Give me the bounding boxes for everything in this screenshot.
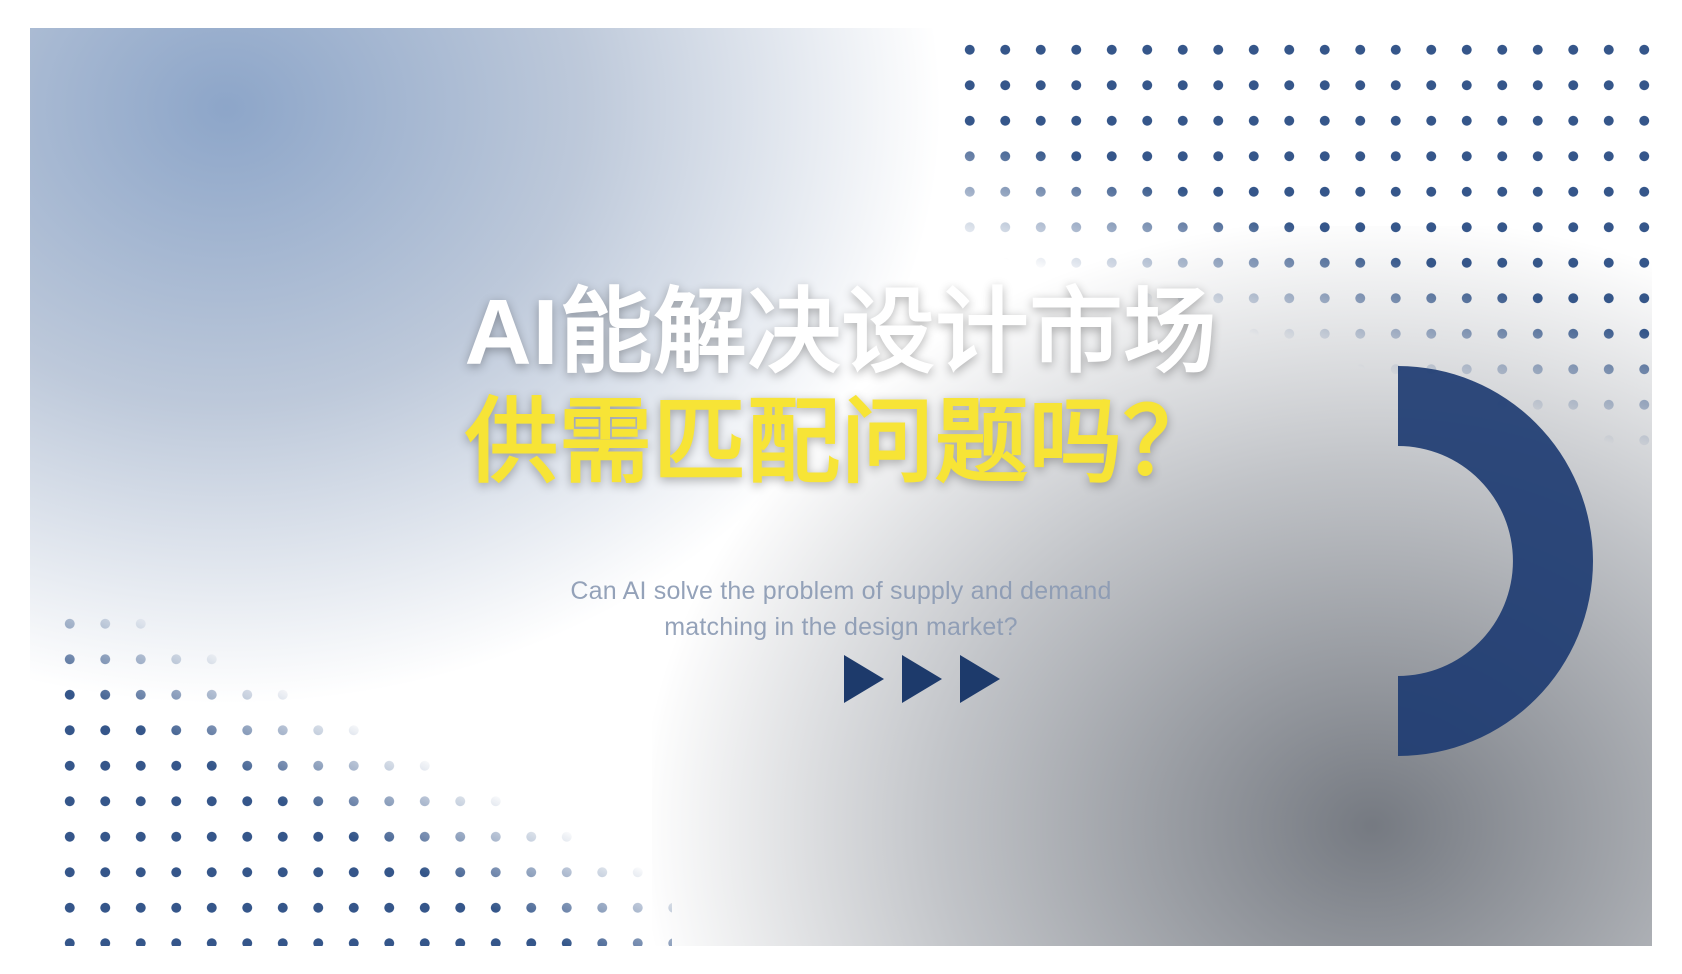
slide-subtitle: Can AI solve the problem of supply and d… — [30, 574, 1652, 645]
slide-title-accent: 供需匹配问题吗？ — [30, 390, 1652, 494]
arrow-group — [30, 655, 1652, 703]
slide-subtitle-line-2: matching in the design market? — [30, 610, 1652, 646]
headline-block: AI能解决设计市场 供需匹配问题吗？ — [30, 280, 1652, 494]
slide-title-primary: AI能解决设计市场 — [30, 280, 1652, 384]
play-triangle-icon-2 — [902, 655, 942, 703]
play-triangle-icon-3 — [960, 655, 1000, 703]
play-triangle-icon-1 — [844, 655, 884, 703]
slide-subtitle-line-1: Can AI solve the problem of supply and d… — [30, 574, 1652, 610]
slide-canvas: AI能解决设计市场 供需匹配问题吗？ Can AI solve the prob… — [30, 28, 1652, 946]
